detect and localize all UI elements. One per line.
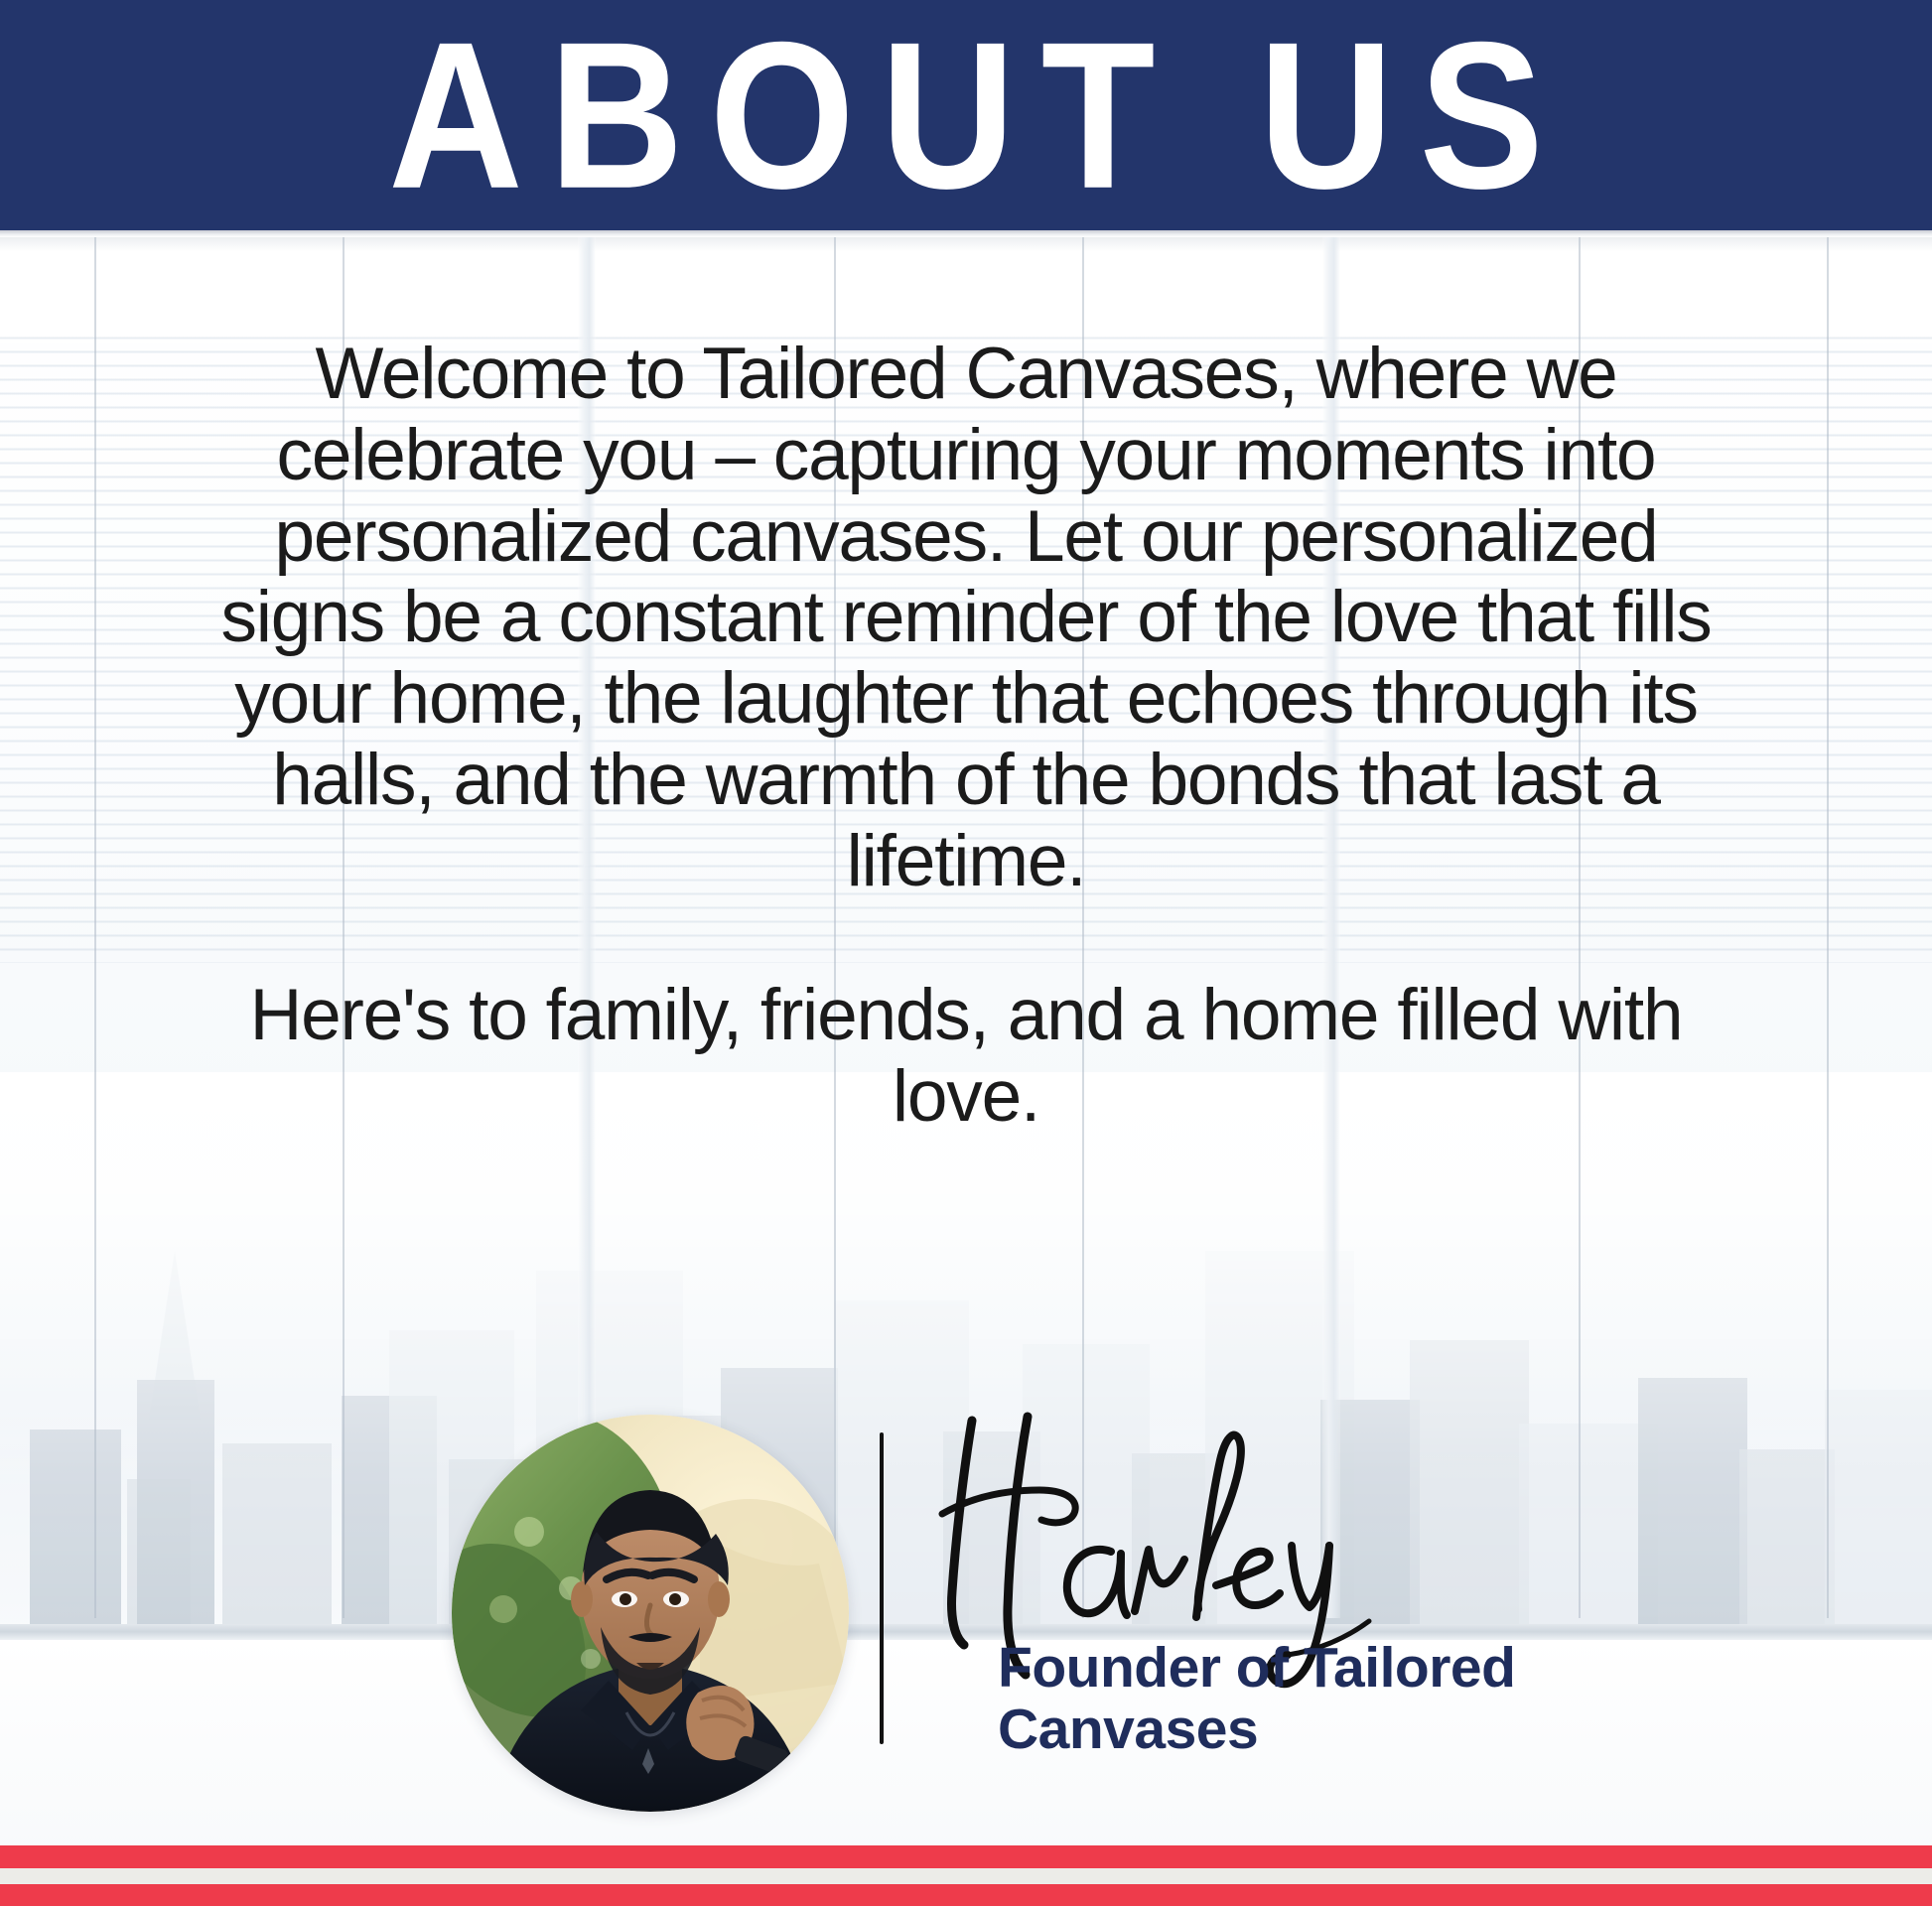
about-us-copy: Welcome to Tailored Canvases, where we c… [213, 334, 1719, 1138]
page-title: ABOUT US [362, 11, 1570, 220]
signature-divider-line [880, 1432, 884, 1744]
founder-avatar [452, 1415, 849, 1812]
founder-role: Founder of Tailored Canvases [998, 1638, 1792, 1760]
founder-role-line-2: Canvases [998, 1700, 1792, 1761]
bottom-stripe-lower [0, 1884, 1932, 1906]
paragraph-spacer [213, 901, 1719, 975]
about-us-page: ABOUT US Welcome to Tailored Canvases, w… [0, 0, 1932, 1906]
bottom-stripe-upper [0, 1845, 1932, 1868]
founder-role-line-1: Founder of Tailored [998, 1638, 1792, 1700]
bottom-stripe-gap [0, 1868, 1932, 1884]
page-header-banner: ABOUT US [0, 0, 1932, 230]
window-mullion [1827, 230, 1829, 1618]
header-bottom-edge [0, 230, 1932, 237]
avatar-portrait-image [452, 1415, 849, 1812]
about-paragraph-1: Welcome to Tailored Canvases, where we c… [213, 334, 1719, 901]
about-paragraph-2: Here's to family, friends, and a home fi… [213, 975, 1719, 1138]
window-mullion [94, 230, 96, 1618]
